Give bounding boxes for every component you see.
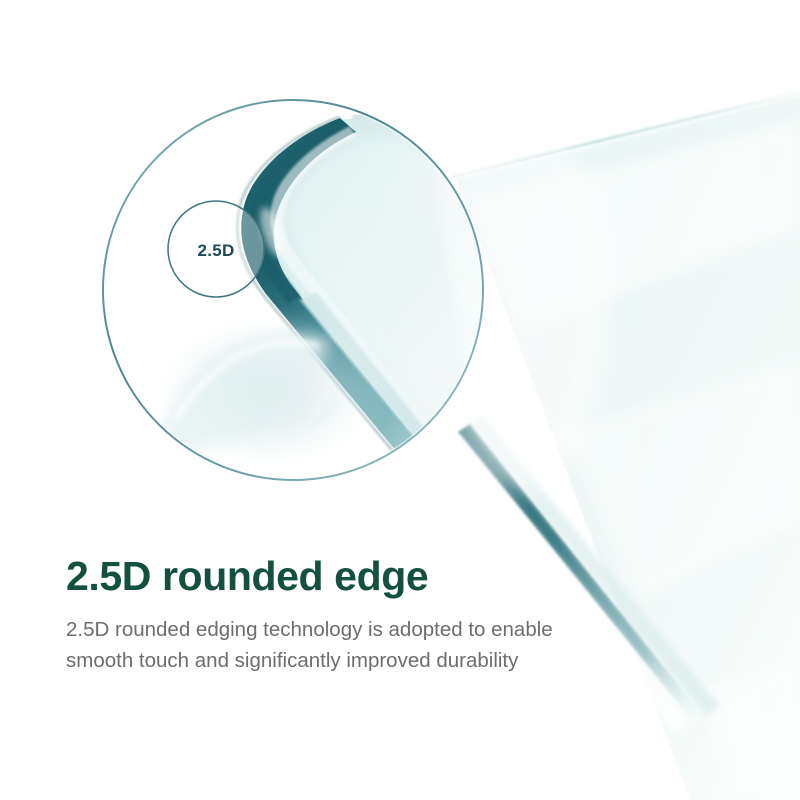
caption-description: 2.5D rounded edging technology is adopte… [66,597,596,677]
caption-line-1: 2.5D rounded edging technology is adopte… [66,615,596,646]
page-title: 2.5D rounded edge [66,556,626,597]
caption-line-2: smooth touch and significantly improved … [66,646,596,677]
callout-circle-group: 2.5D [168,201,264,297]
product-feature-image: 2.5D 2.5D rounded edge 2.5D rounded edgi… [0,0,800,800]
caption-block: 2.5D rounded edge 2.5D rounded edging te… [66,556,626,677]
callout-label: 2.5D [197,241,234,260]
glass-illustration: 2.5D [0,0,800,800]
